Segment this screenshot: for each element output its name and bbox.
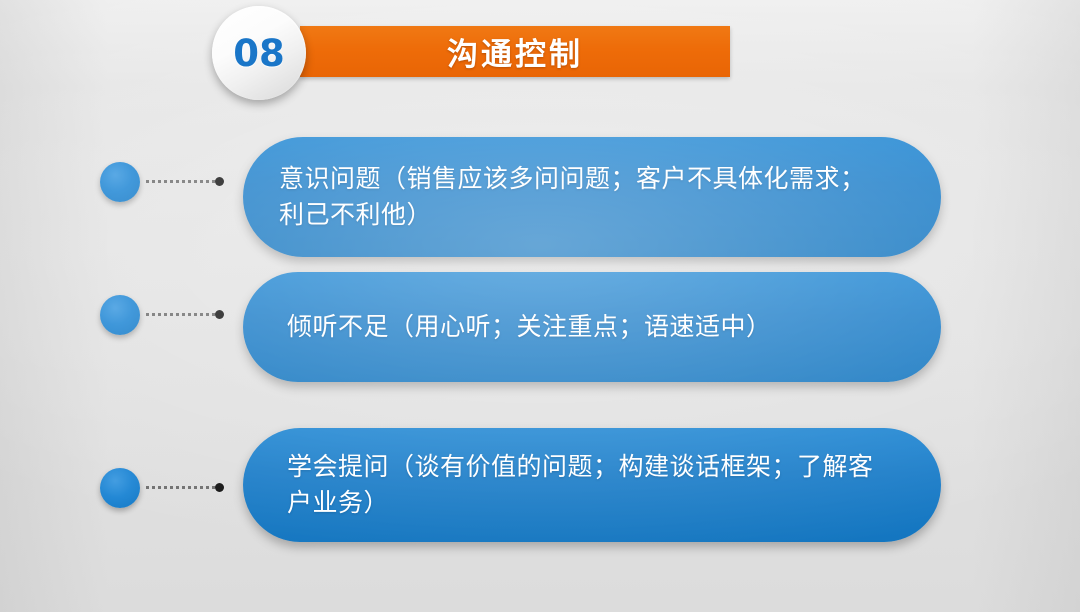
connector-endpoint-dot-2 xyxy=(215,310,224,319)
content-pill-1: 意识问题（销售应该多问问题；客户不具体化需求；利己不利他） xyxy=(243,137,941,257)
connector-endpoint-dot-1 xyxy=(215,177,224,186)
content-pill-text-2: 倾听不足（用心听；关注重点；语速适中） xyxy=(287,309,772,345)
section-number-badge: 08 xyxy=(212,6,306,100)
content-row-3: 学会提问（谈有价值的问题；构建谈话框架；了解客户业务） xyxy=(0,428,1080,542)
content-pill-3: 学会提问（谈有价值的问题；构建谈话框架；了解客户业务） xyxy=(243,428,941,542)
content-pill-text-3: 学会提问（谈有价值的问题；构建谈话框架；了解客户业务） xyxy=(287,449,885,522)
content-pill-2: 倾听不足（用心听；关注重点；语速适中） xyxy=(243,272,941,382)
content-row-2: 倾听不足（用心听；关注重点；语速适中） xyxy=(0,272,1080,382)
bullet-dot-icon-3 xyxy=(100,468,140,508)
bullet-dot-icon-2 xyxy=(100,295,140,335)
slide-canvas: 沟通控制 08 意识问题（销售应该多问问题；客户不具体化需求；利己不利他） 倾听… xyxy=(0,0,1080,612)
section-number-label: 08 xyxy=(233,35,285,72)
connector-endpoint-dot-3 xyxy=(215,483,224,492)
slide-header: 沟通控制 08 xyxy=(0,0,1080,110)
dotted-connector-2 xyxy=(146,313,216,316)
content-pill-text-1: 意识问题（销售应该多问问题；客户不具体化需求；利己不利他） xyxy=(279,161,885,234)
bullet-dot-icon-1 xyxy=(100,162,140,202)
page-title: 沟通控制 xyxy=(300,26,730,77)
content-row-1: 意识问题（销售应该多问问题；客户不具体化需求；利己不利他） xyxy=(0,137,1080,257)
title-banner: 沟通控制 xyxy=(300,26,730,77)
dotted-connector-1 xyxy=(146,180,216,183)
dotted-connector-3 xyxy=(146,486,216,489)
